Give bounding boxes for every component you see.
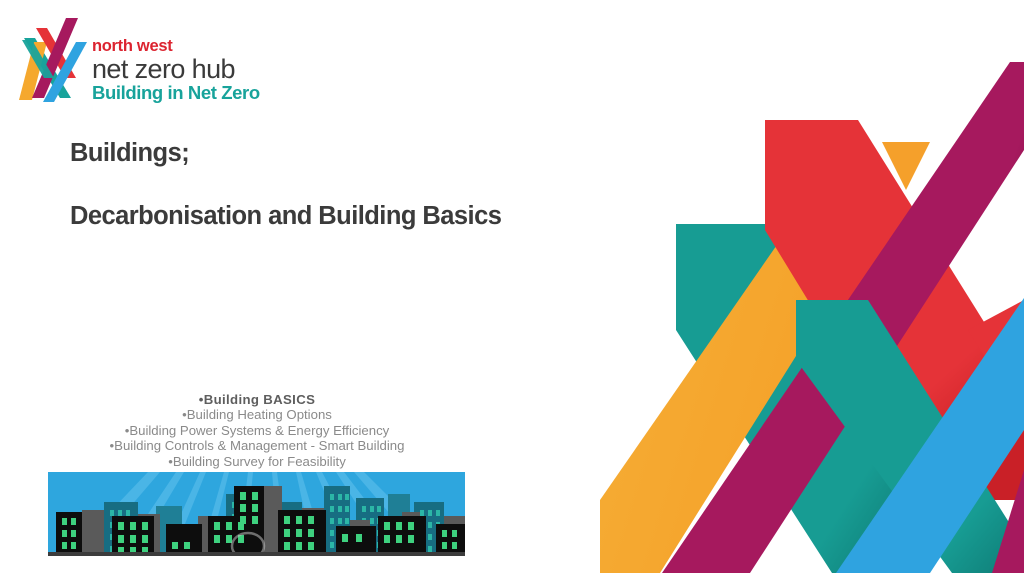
title-line-2: Decarbonisation and Building Basics <box>70 201 610 231</box>
decorative-ribbon-graphic <box>600 0 1024 573</box>
net-zero-hub-logo-mark-icon <box>14 12 94 104</box>
brand-logo: north west net zero hub Building in Net … <box>14 12 284 104</box>
slide-canvas: north west net zero hub Building in Net … <box>0 0 1024 573</box>
brand-logo-text: north west net zero hub Building in Net … <box>92 38 292 103</box>
logo-line-north-west: north west <box>92 38 292 55</box>
logo-line-building-in-net-zero: Building in Net Zero <box>92 83 292 103</box>
bullet-item: •Building Heating Options <box>48 407 466 422</box>
slide-title: Buildings; Decarbonisation and Building … <box>70 138 610 231</box>
logo-line-net-zero-hub: net zero hub <box>92 55 292 83</box>
bullet-item: •Building Survey for Feasibility <box>48 454 466 469</box>
cityscape-illustration <box>48 472 465 556</box>
bullet-item: •Building Controls & Management - Smart … <box>48 438 466 453</box>
bullet-item: •Building BASICS <box>48 392 466 407</box>
agenda-bullet-list: •Building BASICS •Building Heating Optio… <box>48 392 466 469</box>
bullet-item: •Building Power Systems & Energy Efficie… <box>48 423 466 438</box>
title-line-1: Buildings; <box>70 138 610 168</box>
